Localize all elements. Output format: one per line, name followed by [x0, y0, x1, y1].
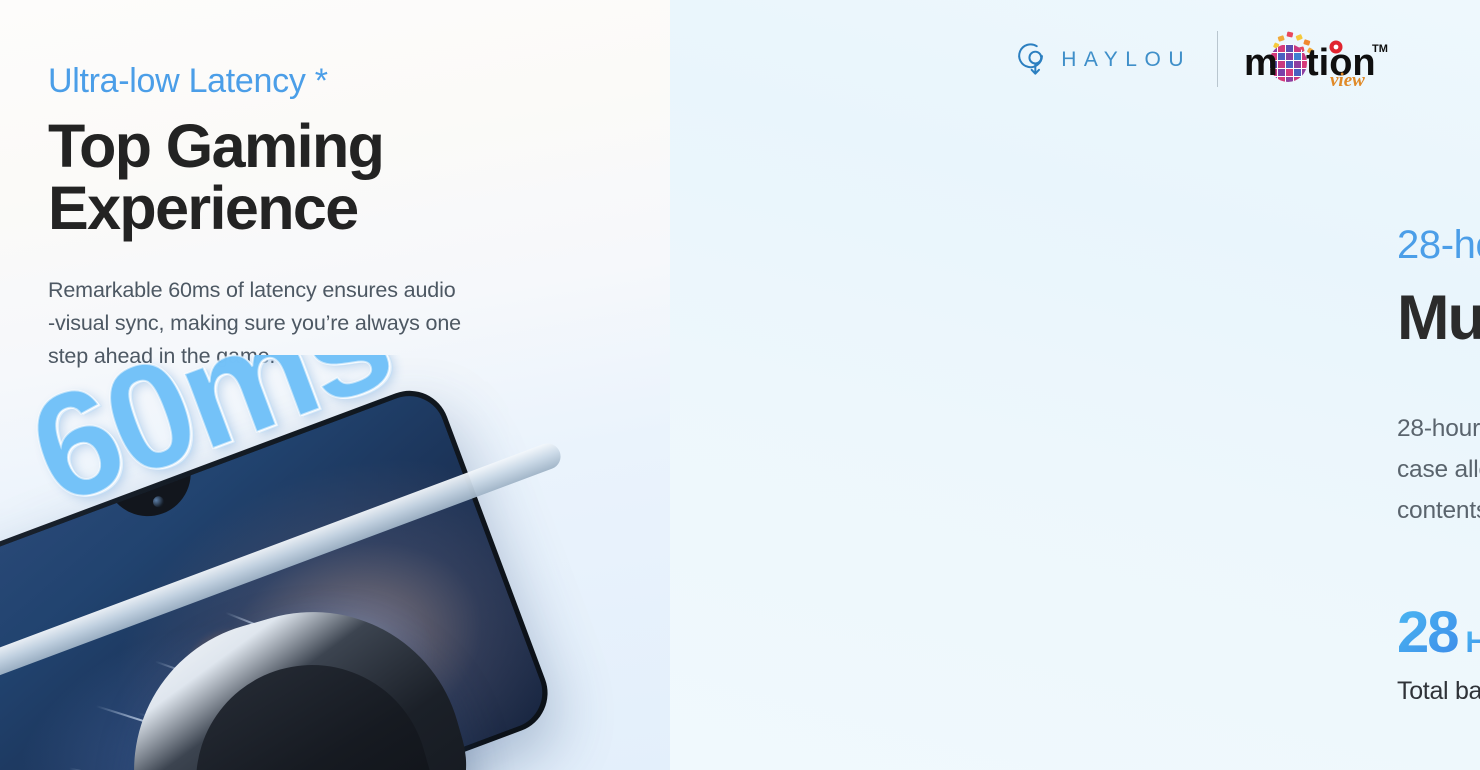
view-script: view	[1330, 70, 1365, 88]
spec-battery-label: Total battery life	[1397, 679, 1480, 704]
left-eyebrow: Ultra-low Latency *	[48, 62, 648, 101]
left-heading: Top Gaming Experience	[48, 115, 648, 239]
spec-list: 28 H Total battery life Type-C Charging …	[1397, 604, 1480, 761]
haylou-wordmark: HAYLOU	[1061, 49, 1191, 70]
right-body-text: 28-hour playtime when used with the char…	[1397, 408, 1480, 531]
motion-view-logo: m tion TM view	[1218, 30, 1396, 88]
right-feature-panel: HAYLOU	[670, 0, 1480, 770]
spec-battery-number: 28	[1397, 604, 1458, 662]
spec-battery-unit: H	[1466, 628, 1480, 658]
left-copy-block: Ultra-low Latency * Top Gaming Experienc…	[48, 62, 648, 373]
right-eyebrow: 28-hour Battery Life	[1397, 222, 1480, 268]
left-feature-panel: Ultra-low Latency * Top Gaming Experienc…	[0, 0, 670, 770]
trademark-mark: TM	[1372, 43, 1388, 55]
spec-battery: 28 H Total battery life	[1397, 604, 1480, 761]
motion-m: m	[1244, 42, 1278, 84]
haylou-logo: HAYLOU	[1015, 40, 1217, 78]
feature-banner: Ultra-low Latency * Top Gaming Experienc…	[0, 0, 1480, 770]
haylou-circle-mark-icon	[1015, 40, 1049, 78]
brand-logo-bar: HAYLOU	[1015, 30, 1396, 88]
earbud-case-lid	[169, 638, 450, 770]
right-heading: Music Never Ends	[1397, 285, 1480, 352]
red-dot-center	[1334, 45, 1339, 50]
spec-battery-value: 28 H	[1397, 604, 1480, 662]
motion-view-mark-icon: m tion TM view	[1244, 30, 1396, 88]
left-hero-art: 60ms	[0, 355, 670, 770]
